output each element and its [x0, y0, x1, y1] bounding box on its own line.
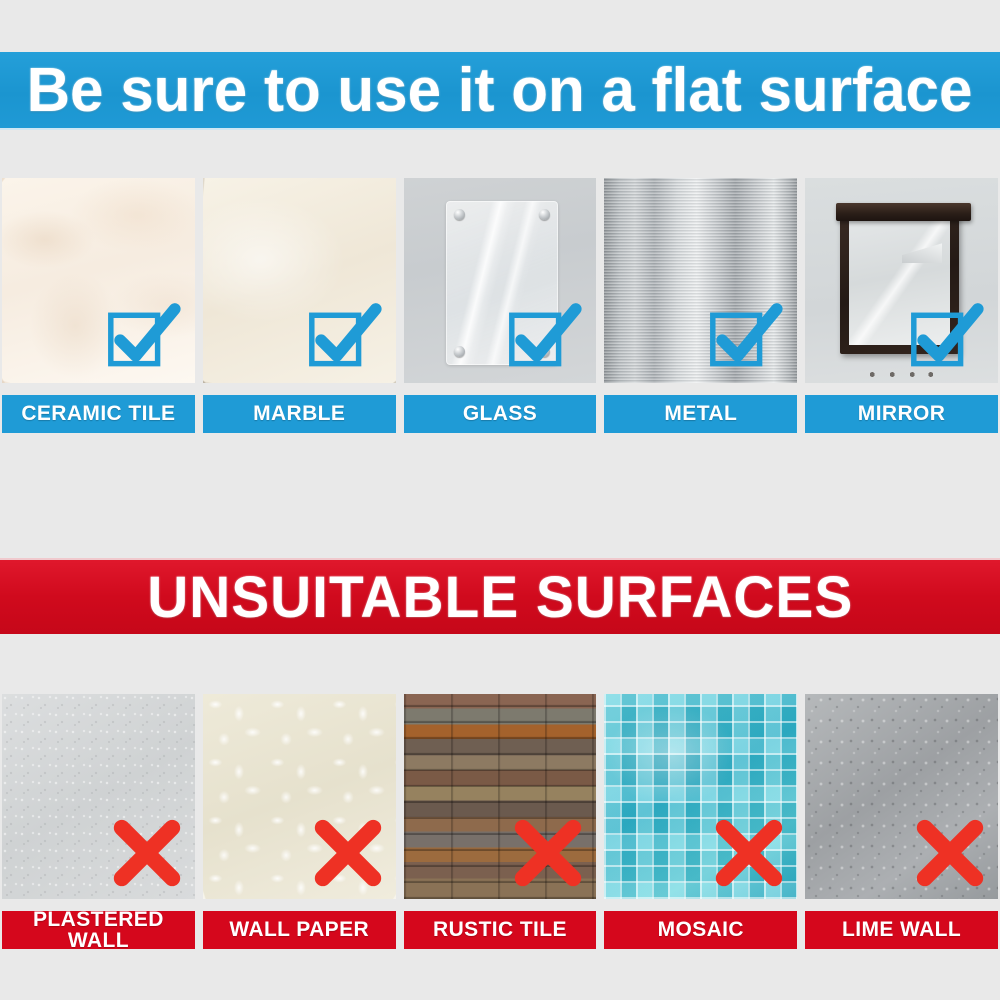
standoff-screw-icon: [539, 346, 550, 357]
mirror-shelf: [836, 203, 971, 221]
suitable-surfaces-row: CERAMIC TILE MARBLE: [0, 178, 1000, 433]
acrylic-panel: [446, 201, 558, 365]
surface-card-rustic-tile: RUSTIC TILE: [404, 694, 597, 949]
infographic-page: Be sure to use it on a flat surface CERA…: [0, 0, 1000, 1000]
surface-card-lime-wall: LIME WALL: [805, 694, 998, 949]
surface-card-mirror: MIRROR: [805, 178, 998, 433]
suitable-surfaces-banner: Be sure to use it on a flat surface: [0, 52, 1000, 130]
checkbox-check-icon: [103, 295, 181, 373]
mirror-glass: [849, 221, 951, 346]
surface-label-plastered-wall: PLASTERED WALL: [2, 911, 195, 949]
standoff-screw-icon: [454, 346, 465, 357]
standoff-screw-icon: [539, 209, 550, 220]
surface-label-mosaic: MOSAIC: [604, 911, 797, 949]
checkbox-check-icon: [705, 295, 783, 373]
mirror-frame: [840, 211, 960, 355]
surface-label-lime-wall: LIME WALL: [805, 911, 998, 949]
surface-label-mirror: MIRROR: [805, 395, 998, 433]
surface-label-marble: MARBLE: [203, 395, 396, 433]
cross-x-icon: [506, 811, 590, 895]
surface-label-rustic-tile: RUSTIC TILE: [404, 911, 597, 949]
surface-label-ceramic-tile: CERAMIC TILE: [2, 395, 195, 433]
surface-card-marble: MARBLE: [203, 178, 396, 433]
wallpaper-floral-texture: [203, 694, 396, 899]
unsuitable-surfaces-row: PLASTERED WALL WALL PAPER RUSTIC TILE: [0, 694, 1000, 949]
surface-label-metal: METAL: [604, 395, 797, 433]
surface-label-wall-paper: WALL PAPER: [203, 911, 396, 949]
rustic-stone-texture: [404, 694, 597, 899]
standoff-screw-icon: [454, 209, 465, 220]
unsuitable-banner-title: UNSUITABLE SURFACES: [147, 564, 853, 631]
cross-x-icon: [908, 811, 992, 895]
glass-mosaic-texture: [604, 694, 797, 899]
surface-card-ceramic-tile: CERAMIC TILE: [2, 178, 195, 433]
surface-label-glass: GLASS: [404, 395, 597, 433]
checkbox-check-icon: [304, 295, 382, 373]
lime-render-texture: [805, 694, 998, 899]
ceramic-tile-texture: [2, 178, 195, 383]
unsuitable-surfaces-banner: UNSUITABLE SURFACES: [0, 558, 1000, 634]
plastered-wall-texture: [2, 694, 195, 899]
mirror-hooks-icon: [863, 370, 940, 379]
cross-x-icon: [306, 811, 390, 895]
surface-card-glass: GLASS: [404, 178, 597, 433]
brushed-metal-texture: [604, 178, 797, 383]
mirror-reflection: [902, 243, 943, 263]
framed-mirror-photo: [805, 178, 998, 383]
marble-texture: [203, 178, 396, 383]
surface-card-wall-paper: WALL PAPER: [203, 694, 396, 949]
cross-x-icon: [105, 811, 189, 895]
surface-card-mosaic: MOSAIC: [604, 694, 797, 949]
glass-panel-photo: [404, 178, 597, 383]
surface-card-metal: METAL: [604, 178, 797, 433]
suitable-banner-title: Be sure to use it on a flat surface: [27, 55, 973, 126]
surface-card-plastered-wall: PLASTERED WALL: [2, 694, 195, 949]
cross-x-icon: [707, 811, 791, 895]
